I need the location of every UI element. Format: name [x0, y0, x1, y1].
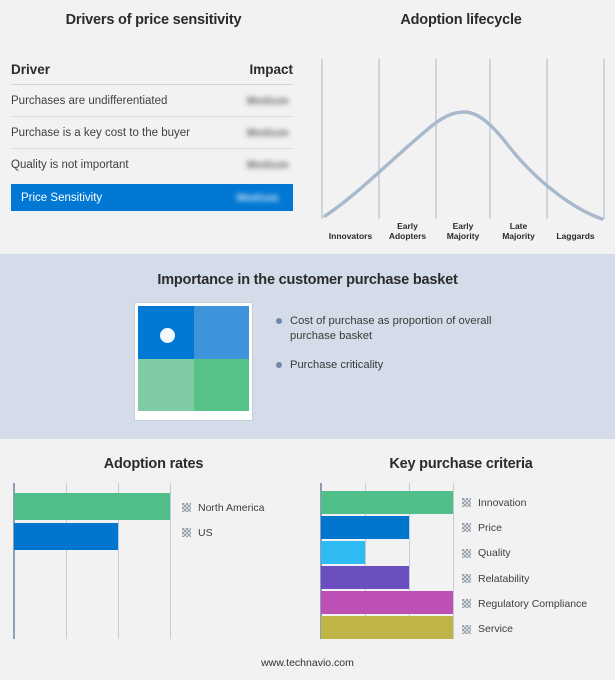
matrix-quadrant-top-right — [194, 306, 250, 359]
bar-regulatory-compliance — [321, 591, 453, 614]
key-purchase-criteria-panel: Key purchase criteria Innovation Price — [307, 439, 615, 680]
legend-swatch-icon — [182, 528, 191, 537]
adoption-rates-legend: North America US — [182, 495, 265, 545]
lifecycle-curve-svg — [321, 56, 606, 241]
panel-title: Importance in the customer purchase bask… — [0, 272, 615, 288]
drivers-table: Driver Impact Purchases are undifferenti… — [11, 62, 293, 211]
table-row: Purchase is a key cost to the buyer Medi… — [11, 117, 293, 149]
bar-us — [14, 523, 118, 550]
column-header-impact: Impact — [249, 62, 293, 77]
adoption-lifecycle-chart: Innovators Early Adopters Early Majority… — [321, 56, 606, 241]
legend-item: Purchase criticality — [276, 358, 536, 373]
legend-item: Price — [462, 515, 587, 540]
legend-label: North America — [198, 502, 265, 514]
bar-relatability — [321, 566, 409, 589]
legend-item: Cost of purchase as proportion of overal… — [276, 314, 536, 344]
table-row: Purchases are undifferentiated Medium — [11, 85, 293, 117]
legend-swatch-icon — [462, 498, 471, 507]
table-header-row: Driver Impact — [11, 62, 293, 85]
legend-label: Innovation — [478, 497, 526, 509]
position-dot-marker — [160, 328, 175, 343]
impact-value: Medium — [247, 159, 293, 171]
adoption-rates-panel: Adoption rates North America US — [0, 439, 307, 680]
bar-north-america — [14, 493, 170, 520]
legend-item: North America — [182, 495, 265, 520]
axis-label-early-adopters: Early Adopters — [379, 221, 436, 241]
panel-title: Key purchase criteria — [307, 456, 615, 472]
axis-label-innovators: Innovators — [322, 231, 379, 241]
legend-label: Service — [478, 623, 513, 635]
legend-item: US — [182, 520, 265, 545]
panel-title: Drivers of price sensitivity — [0, 12, 307, 28]
panel-title: Adoption lifecycle — [307, 12, 615, 28]
drivers-of-price-sensitivity-panel: Drivers of price sensitivity Driver Impa… — [0, 0, 307, 254]
bar-innovation — [321, 491, 453, 514]
legend-label: US — [198, 527, 213, 539]
column-header-driver: Driver — [11, 62, 50, 77]
legend-swatch-icon — [462, 574, 471, 583]
bullet-icon — [276, 318, 282, 324]
axis-label-early-majority: Early Majority — [436, 221, 490, 241]
legend-label: Regulatory Compliance — [478, 598, 587, 610]
driver-label: Purchase is a key cost to the buyer — [11, 127, 190, 139]
legend-swatch-icon — [462, 625, 471, 634]
quadrant-matrix — [138, 306, 249, 411]
bullet-icon — [276, 362, 282, 368]
legend-label: Purchase criticality — [290, 358, 383, 373]
highlighted-row-price-sensitivity: Price Sensitivity Medium — [11, 184, 293, 211]
adoption-curve — [325, 112, 602, 219]
bar-service — [321, 616, 453, 639]
impact-value: Medium — [247, 127, 293, 139]
legend-item: Service — [462, 616, 587, 641]
legend-swatch-icon — [462, 599, 471, 608]
driver-label: Purchases are undifferentiated — [11, 95, 167, 107]
legend-item: Innovation — [462, 490, 587, 515]
adoption-rates-chart — [13, 483, 170, 639]
matrix-quadrant-bottom-left — [138, 359, 194, 412]
bottom-section: Adoption rates North America US Key purc… — [0, 439, 615, 680]
legend-label: Quality — [478, 547, 511, 559]
purchase-basket-section: Importance in the customer purchase bask… — [0, 254, 615, 439]
legend-label: Price — [478, 522, 502, 534]
impact-value: Medium — [237, 192, 283, 204]
legend-swatch-icon — [462, 523, 471, 532]
adoption-lifecycle-panel: Adoption lifecycle Innovators Early Adop… — [307, 0, 615, 254]
gridline — [170, 483, 171, 639]
gridline — [453, 483, 454, 639]
bar-price — [321, 516, 409, 539]
axis-label-laggards: Laggards — [547, 231, 604, 241]
basket-legend: Cost of purchase as proportion of overal… — [276, 314, 536, 387]
bar-quality — [321, 541, 365, 564]
legend-item: Regulatory Compliance — [462, 591, 587, 616]
legend-item: Quality — [462, 541, 587, 566]
axis-label-late-majority: Late Majority — [490, 221, 547, 241]
legend-label: Relatability — [478, 573, 529, 585]
driver-label: Price Sensitivity — [21, 192, 102, 204]
footer-url: www.technavio.com — [0, 657, 615, 669]
legend-label: Cost of purchase as proportion of overal… — [290, 314, 536, 344]
legend-swatch-icon — [182, 503, 191, 512]
key-purchase-criteria-legend: Innovation Price Quality Relatability Re… — [462, 490, 587, 642]
purchase-basket-matrix-card — [135, 303, 252, 420]
legend-swatch-icon — [462, 549, 471, 558]
impact-value: Medium — [247, 95, 293, 107]
panel-title: Adoption rates — [0, 456, 307, 472]
table-row: Quality is not important Medium — [11, 149, 293, 180]
top-section: Drivers of price sensitivity Driver Impa… — [0, 0, 615, 254]
matrix-quadrant-bottom-right — [194, 359, 250, 412]
driver-label: Quality is not important — [11, 159, 129, 171]
legend-item: Relatability — [462, 566, 587, 591]
key-purchase-criteria-chart — [320, 483, 460, 639]
